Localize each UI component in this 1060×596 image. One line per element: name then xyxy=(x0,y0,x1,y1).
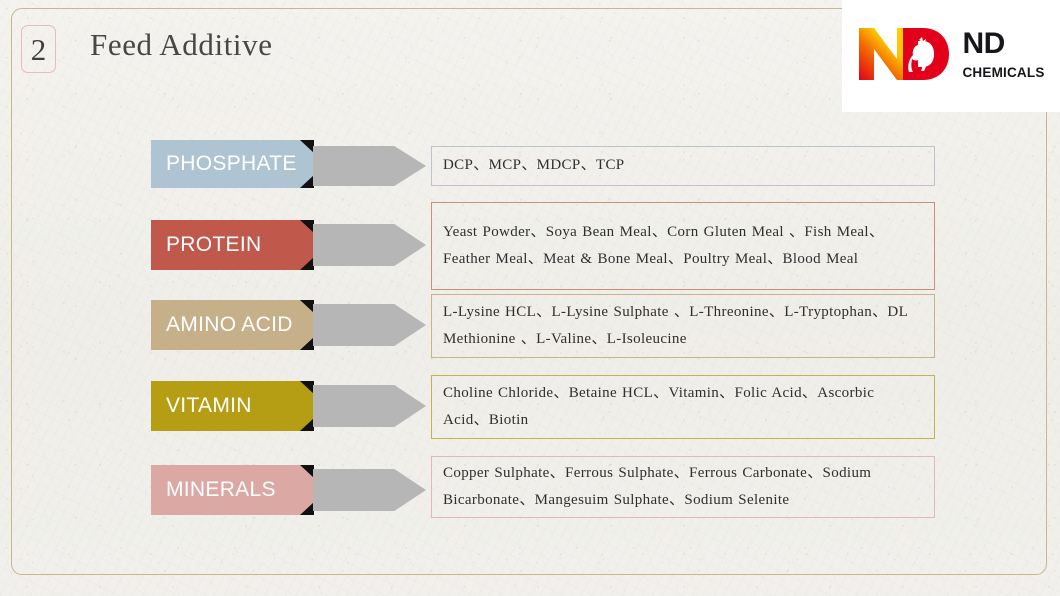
content-text: Copper Sulphate、Ferrous Sulphate、Ferrous… xyxy=(443,460,924,515)
content-box-phosphate[interactable]: DCP、MCP、MDCP、TCP xyxy=(431,146,935,186)
slide: 2 Feed Additive xyxy=(0,0,1060,596)
chip-corner-notch-bottom xyxy=(300,175,314,188)
chip-corner-notch-bottom xyxy=(300,257,314,270)
content-box-minerals[interactable]: Copper Sulphate、Ferrous Sulphate、Ferrous… xyxy=(431,456,935,518)
chip-corner-notch-bottom xyxy=(300,418,314,431)
chip-corner-notch-top xyxy=(300,381,314,394)
arrow-right-icon xyxy=(313,224,426,266)
category-chip-label: PROTEIN xyxy=(166,233,261,257)
chip-corner-notch-top xyxy=(300,300,314,313)
category-chip-vitamin[interactable]: VITAMIN xyxy=(151,381,313,431)
content-box-vitamin[interactable]: Choline Chloride、Betaine HCL、Vitamin、Fol… xyxy=(431,375,935,439)
content-box-protein[interactable]: Yeast Powder、Soya Bean Meal、Corn Gluten … xyxy=(431,202,935,290)
category-chip-minerals[interactable]: MINERALS xyxy=(151,465,313,515)
chip-corner-notch-bottom xyxy=(300,502,314,515)
content-text: Yeast Powder、Soya Bean Meal、Corn Gluten … xyxy=(443,219,924,274)
content-text: L-Lysine HCL、L-Lysine Sulphate 、L-Threon… xyxy=(443,299,924,354)
category-chip-label: VITAMIN xyxy=(166,394,252,418)
content-text: DCP、MCP、MDCP、TCP xyxy=(443,152,625,179)
category-chip-protein[interactable]: PROTEIN xyxy=(151,220,313,270)
category-chip-phosphate[interactable]: PHOSPHATE xyxy=(151,140,313,188)
arrow-right-icon xyxy=(313,469,426,511)
category-chip-label: MINERALS xyxy=(166,478,276,502)
feed-additive-rows: PHOSPHATEDCP、MCP、MDCP、TCPPROTEINYeast Po… xyxy=(0,0,1060,596)
chip-corner-notch-bottom xyxy=(300,337,314,350)
arrow-right-icon xyxy=(313,385,426,427)
category-chip-label: PHOSPHATE xyxy=(166,152,297,176)
chip-corner-notch-top xyxy=(300,140,314,153)
content-text: Choline Chloride、Betaine HCL、Vitamin、Fol… xyxy=(443,380,924,435)
chip-corner-notch-top xyxy=(300,220,314,233)
category-chip-label: AMINO ACID xyxy=(166,313,293,337)
category-chip-amino-acid[interactable]: AMINO ACID xyxy=(151,300,313,350)
content-box-amino-acid[interactable]: L-Lysine HCL、L-Lysine Sulphate 、L-Threon… xyxy=(431,294,935,358)
chip-corner-notch-top xyxy=(300,465,314,478)
arrow-right-icon xyxy=(313,146,426,186)
arrow-right-icon xyxy=(313,304,426,346)
